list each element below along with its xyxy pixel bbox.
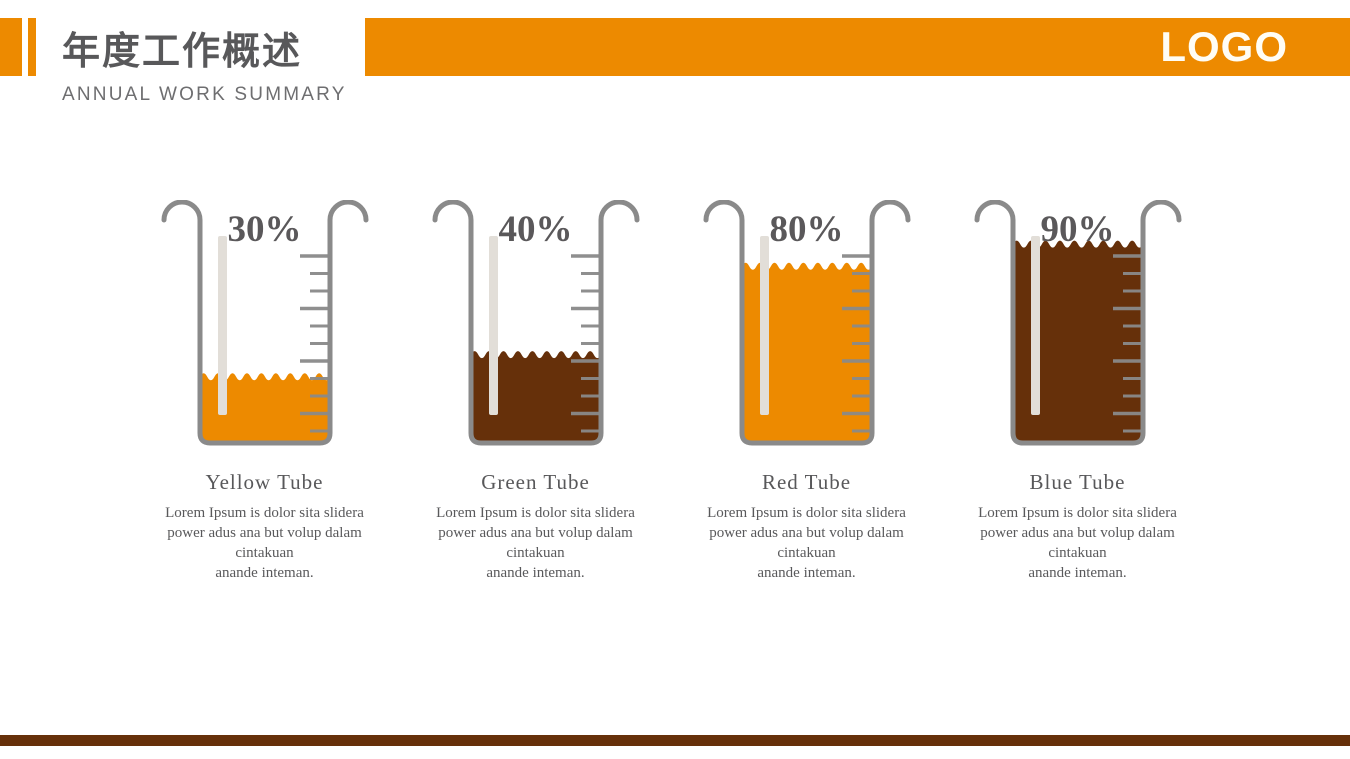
beaker-rim-left	[435, 202, 471, 222]
beaker-rim-left	[706, 202, 742, 222]
beaker-title: Green Tube	[481, 470, 590, 495]
beaker-rim-right	[1143, 202, 1179, 222]
beaker-cell: 90%Blue TubeLorem Ipsum is dolor sita sl…	[942, 200, 1213, 583]
beaker-graphic[interactable]: 80%	[687, 200, 927, 460]
beaker-graphic[interactable]: 90%	[958, 200, 1198, 460]
beaker-chart-row: 30%Yellow TubeLorem Ipsum is dolor sita …	[0, 200, 1350, 583]
beaker-graphic[interactable]: 30%	[145, 200, 385, 460]
beaker-cell: 80%Red TubeLorem Ipsum is dolor sita sli…	[671, 200, 942, 583]
beaker-rim-right	[872, 202, 908, 222]
beaker-description: Lorem Ipsum is dolor sita slidera power …	[137, 503, 392, 583]
logo-text: LOGO	[1160, 26, 1288, 68]
beaker-rim-left	[164, 202, 200, 222]
slide-header: 年度工作概述 ANNUAL WORK SUMMARY LOGO	[0, 0, 1350, 120]
beaker-rim-left	[977, 202, 1013, 222]
stir-rod	[218, 236, 227, 415]
beaker-graphic[interactable]: 40%	[416, 200, 656, 460]
beaker-description: Lorem Ipsum is dolor sita slidera power …	[408, 503, 663, 583]
beaker-title: Yellow Tube	[206, 470, 324, 495]
beaker-description: Lorem Ipsum is dolor sita slidera power …	[950, 503, 1205, 583]
stir-rod	[1031, 236, 1040, 415]
page-subtitle-en: ANNUAL WORK SUMMARY	[62, 84, 347, 106]
beaker-title: Blue Tube	[1030, 470, 1126, 495]
header-orange-banner: LOGO	[365, 18, 1350, 76]
beaker-cell: 40%Green TubeLorem Ipsum is dolor sita s…	[400, 200, 671, 583]
beaker-rim-right	[601, 202, 637, 222]
footer-accent-bar	[0, 735, 1350, 746]
beaker-rim-right	[330, 202, 366, 222]
page-title-cn: 年度工作概述	[62, 20, 302, 75]
stir-rod	[489, 236, 498, 415]
header-accent-bar-thin	[28, 18, 36, 76]
stir-rod	[760, 236, 769, 415]
header-accent-bar-wide	[0, 18, 22, 76]
beaker-description: Lorem Ipsum is dolor sita slidera power …	[679, 503, 934, 583]
beaker-cell: 30%Yellow TubeLorem Ipsum is dolor sita …	[129, 200, 400, 583]
beaker-title: Red Tube	[762, 470, 851, 495]
